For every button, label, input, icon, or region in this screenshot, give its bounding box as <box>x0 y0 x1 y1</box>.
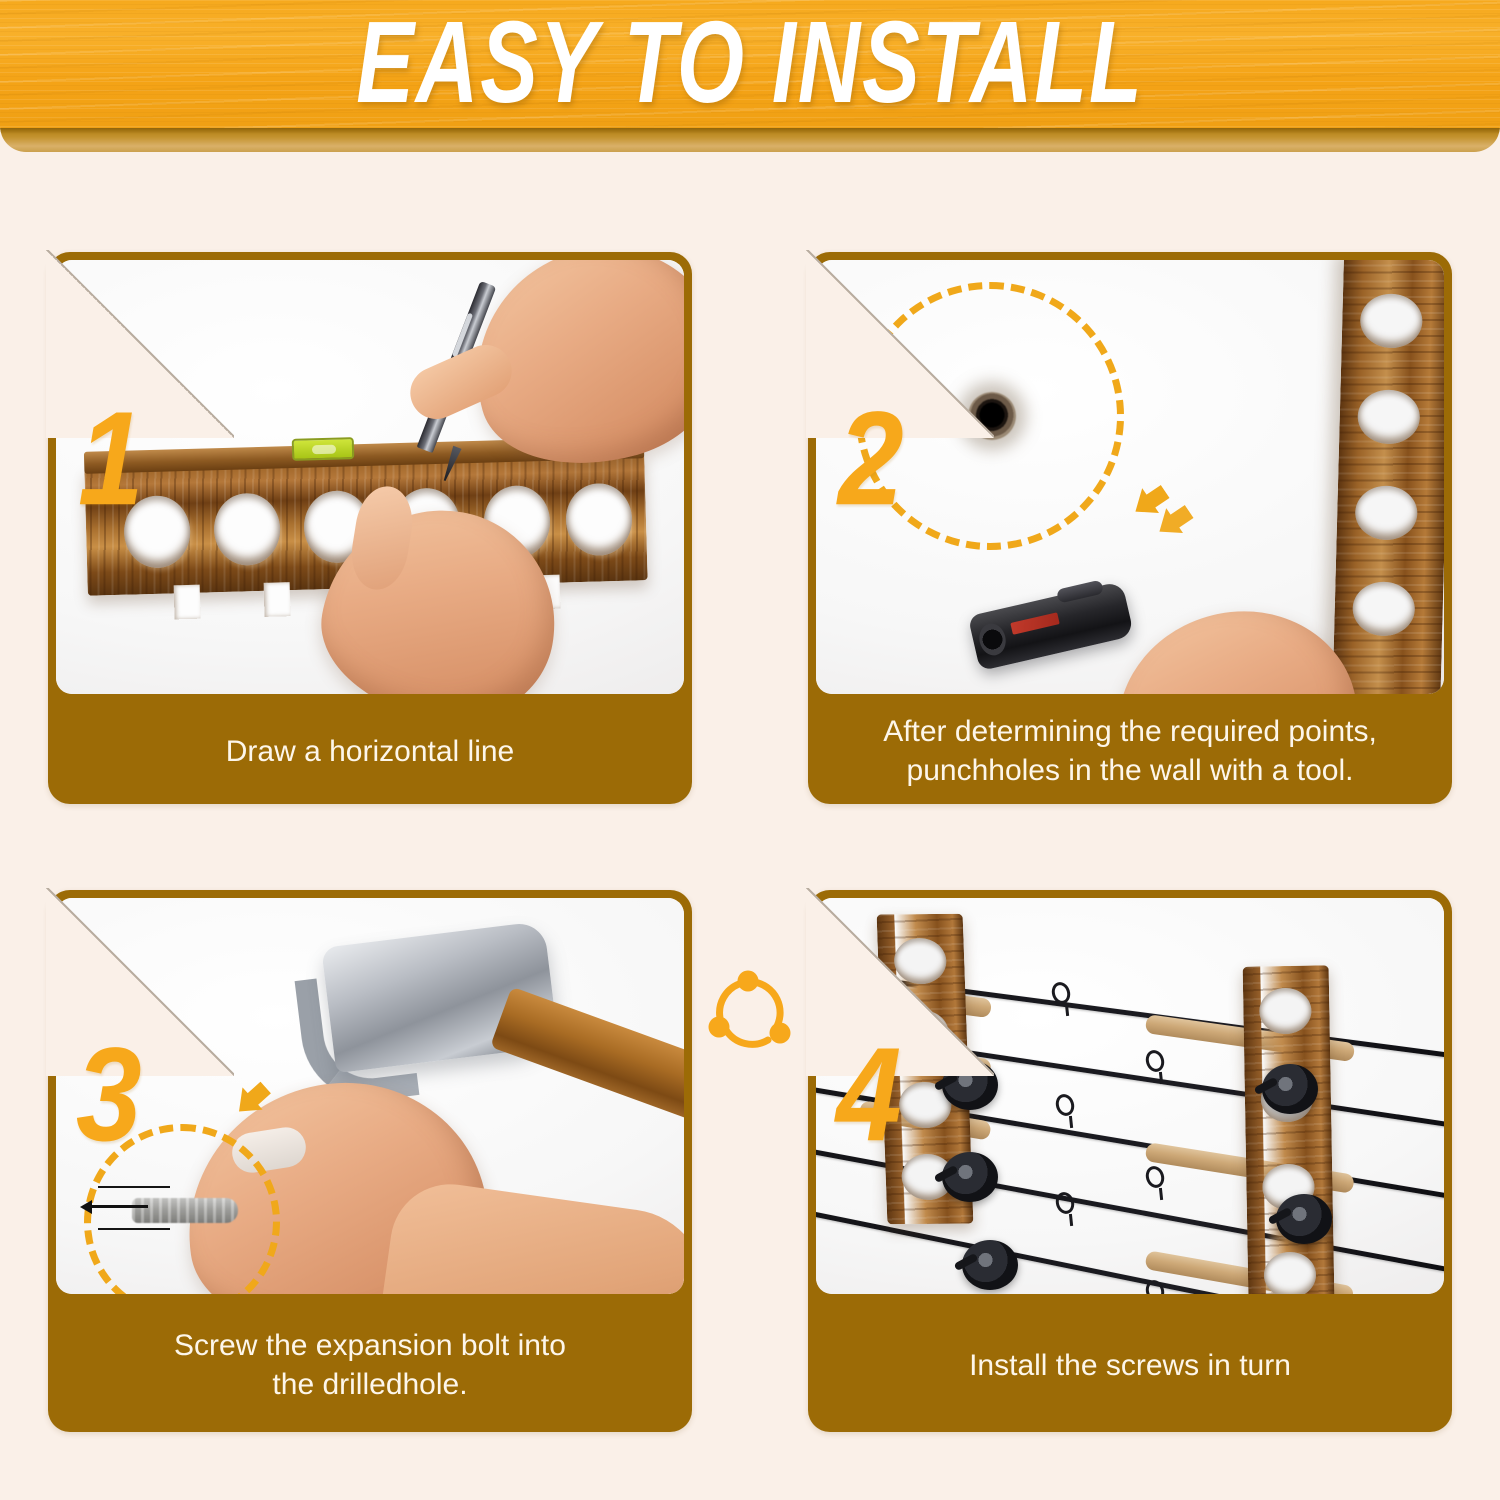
step-4-caption: Install the screws in turn <box>808 1298 1452 1432</box>
step-1-frame: A hand holds a torched-wood fishing rod … <box>48 252 692 804</box>
anchor-guide-line <box>98 1186 170 1188</box>
step-card-3: A dashed orange circle shows a grey plas… <box>48 890 692 1432</box>
insertion-direction-arrow <box>90 1205 148 1208</box>
step-number-3: 3 <box>76 1028 142 1161</box>
spinning-reel <box>962 1240 1018 1290</box>
step-card-2: A dashed orange circle highlights a fres… <box>808 252 1452 804</box>
step-3-photo: A dashed orange circle shows a grey plas… <box>56 898 684 1294</box>
wall-anchor <box>132 1198 238 1223</box>
anchor-guide-line <box>98 1228 170 1230</box>
rack-hole <box>1355 485 1418 541</box>
rack-slot <box>174 585 201 620</box>
step-number-4: 4 <box>836 1028 902 1161</box>
step-number-2: 2 <box>838 392 904 525</box>
spinning-reel <box>942 1152 998 1202</box>
rack-hole <box>1357 389 1420 445</box>
page-title: EASY TO INSTALL <box>45 0 1455 145</box>
drilled-hole <box>968 392 1016 440</box>
step-2-caption-line-1: After determining the required points, <box>883 712 1377 751</box>
step-4-frame: The finished installation: two vertical … <box>808 890 1452 1432</box>
cycle-arrows-icon <box>704 966 796 1058</box>
rack-hole <box>565 483 633 557</box>
step-2-photo: A dashed orange circle highlights a fres… <box>816 260 1444 694</box>
spinning-reel <box>942 1060 998 1110</box>
step-4-photo: The finished installation: two vertical … <box>816 898 1444 1294</box>
rack-hole <box>1259 988 1312 1035</box>
step-number-1: 1 <box>78 392 144 525</box>
step-2-caption-line-2: punchholes in the wall with a tool. <box>907 751 1354 790</box>
rack-hole <box>1264 1252 1317 1294</box>
punch-tool-brand-label <box>1010 612 1059 634</box>
bubble-level-tool <box>292 437 355 461</box>
cycle-dot <box>709 1017 730 1038</box>
rod-rack-panel-vertical <box>1332 260 1444 694</box>
rack-hole <box>893 938 947 984</box>
steps-grid: A hand holds a torched-wood fishing rod … <box>0 152 1500 1500</box>
step-3-caption: Screw the expansion bolt into the drille… <box>48 1298 692 1432</box>
step-2-frame: A dashed orange circle highlights a fres… <box>808 252 1452 804</box>
step-2-caption: After determining the required points, p… <box>808 698 1452 804</box>
step-card-4: The finished installation: two vertical … <box>808 890 1452 1432</box>
rod-rack-panel-right <box>1243 965 1336 1294</box>
rack-hole <box>213 492 281 566</box>
step-3-caption-line-2: the drilledhole. <box>272 1365 467 1404</box>
step-card-1: A hand holds a torched-wood fishing rod … <box>48 252 692 804</box>
step-3-frame: A dashed orange circle shows a grey plas… <box>48 890 692 1432</box>
rack-slot <box>264 582 291 617</box>
header-banner: EASY TO INSTALL <box>0 0 1500 152</box>
rack-hole <box>1360 293 1423 349</box>
cycle-dot <box>770 1023 791 1044</box>
step-1-photo: A hand holds a torched-wood fishing rod … <box>56 260 684 694</box>
step-3-caption-line-1: Screw the expansion bolt into <box>174 1326 566 1365</box>
spinning-reel <box>1262 1064 1318 1114</box>
rack-hole <box>896 1010 950 1056</box>
cycle-dot <box>738 971 759 992</box>
rack-hole <box>1352 581 1415 637</box>
spinning-reel <box>1276 1194 1332 1244</box>
step-1-caption: Draw a horizontal line <box>48 698 692 804</box>
